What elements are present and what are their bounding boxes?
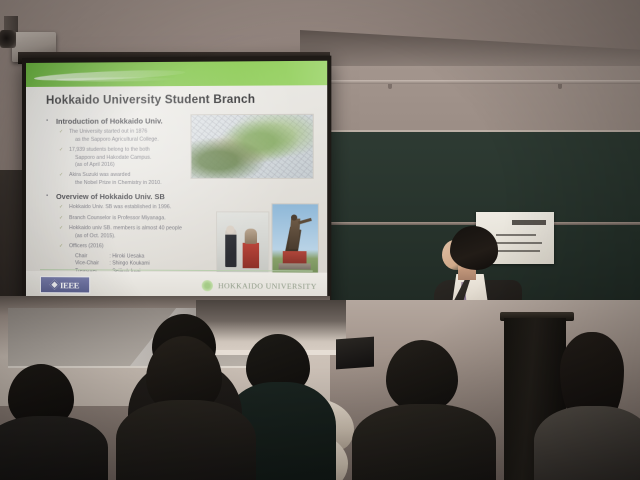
sign-heading xyxy=(512,220,546,225)
photo-person-head xyxy=(226,226,234,234)
sub-bullet: ✓ 17,939 students belong to the both Sap… xyxy=(56,147,163,169)
laptop-on-desk xyxy=(336,337,374,370)
sub-bullet: ✓ Officers (2016) xyxy=(56,243,182,251)
ieee-diamond-icon xyxy=(49,280,59,290)
audience-shoulders xyxy=(0,416,108,480)
audience-shoulders xyxy=(352,404,496,480)
wall-rail xyxy=(330,80,640,84)
check-icon: ✓ xyxy=(59,225,63,232)
sub-bullet: ✓ Akira Suzuki was awarded the Nobel Pri… xyxy=(56,172,163,187)
section-heading: ▪ Introduction of Hokkaido Univ. xyxy=(56,116,163,125)
presentation-slide: Hokkaido University Student Branch ▪ Int… xyxy=(26,61,327,306)
statue-head xyxy=(291,215,297,221)
projector-lens xyxy=(0,30,16,48)
slide-title: Hokkaido University Student Branch xyxy=(46,94,255,107)
ieee-logo: IEEE xyxy=(40,276,90,293)
audience-shoulders xyxy=(116,400,256,480)
check-icon: ✓ xyxy=(59,172,63,179)
audience-shoulders xyxy=(534,406,640,480)
banner-swoosh-icon xyxy=(56,77,177,82)
slide-section-introduction: ▪ Introduction of Hokkaido Univ. ✓ The U… xyxy=(56,116,163,187)
presenter-hair xyxy=(450,226,498,270)
clark-statue-photo-image xyxy=(271,203,319,278)
hokkaido-university-label: HOKKAIDO UNIVERSITY xyxy=(218,281,317,291)
sub-bullet: ✓ The University started out in 1876 as … xyxy=(56,129,163,144)
campus-aerial-map-image xyxy=(190,114,313,179)
check-icon: ✓ xyxy=(59,204,63,211)
bullet-icon: ▪ xyxy=(46,193,48,199)
hokkaido-university-emblem-icon xyxy=(202,280,213,291)
sub-bullet: ✓ Hokkaido univ SB. members is almost 40… xyxy=(56,225,182,240)
lecture-room-photo: Hokkaido University Student Branch ▪ Int… xyxy=(0,0,640,480)
audience-head xyxy=(386,340,458,412)
sub-bullet: ✓ Branch Counselor is Professor Miyanaga… xyxy=(56,215,182,223)
check-icon: ✓ xyxy=(59,215,63,222)
photo-pedestal xyxy=(243,243,259,268)
photo-person xyxy=(225,229,236,268)
check-icon: ✓ xyxy=(59,243,63,250)
check-icon: ✓ xyxy=(59,129,63,136)
rail-hook xyxy=(558,84,562,89)
bust-photo-image xyxy=(216,211,269,274)
bullet-icon: ▪ xyxy=(46,118,48,124)
projection-screen: Hokkaido University Student Branch ▪ Int… xyxy=(22,56,331,311)
rail-hook xyxy=(388,84,392,89)
photo-bust xyxy=(245,229,257,244)
statue-plinth xyxy=(279,263,311,269)
sub-bullet: ✓ Hokkaido Univ. SB was established in 1… xyxy=(56,204,182,212)
check-icon: ✓ xyxy=(59,147,63,154)
section-heading: ▪ Overview of Hokkaido Univ. SB xyxy=(56,192,182,201)
slide-banner xyxy=(26,61,327,87)
